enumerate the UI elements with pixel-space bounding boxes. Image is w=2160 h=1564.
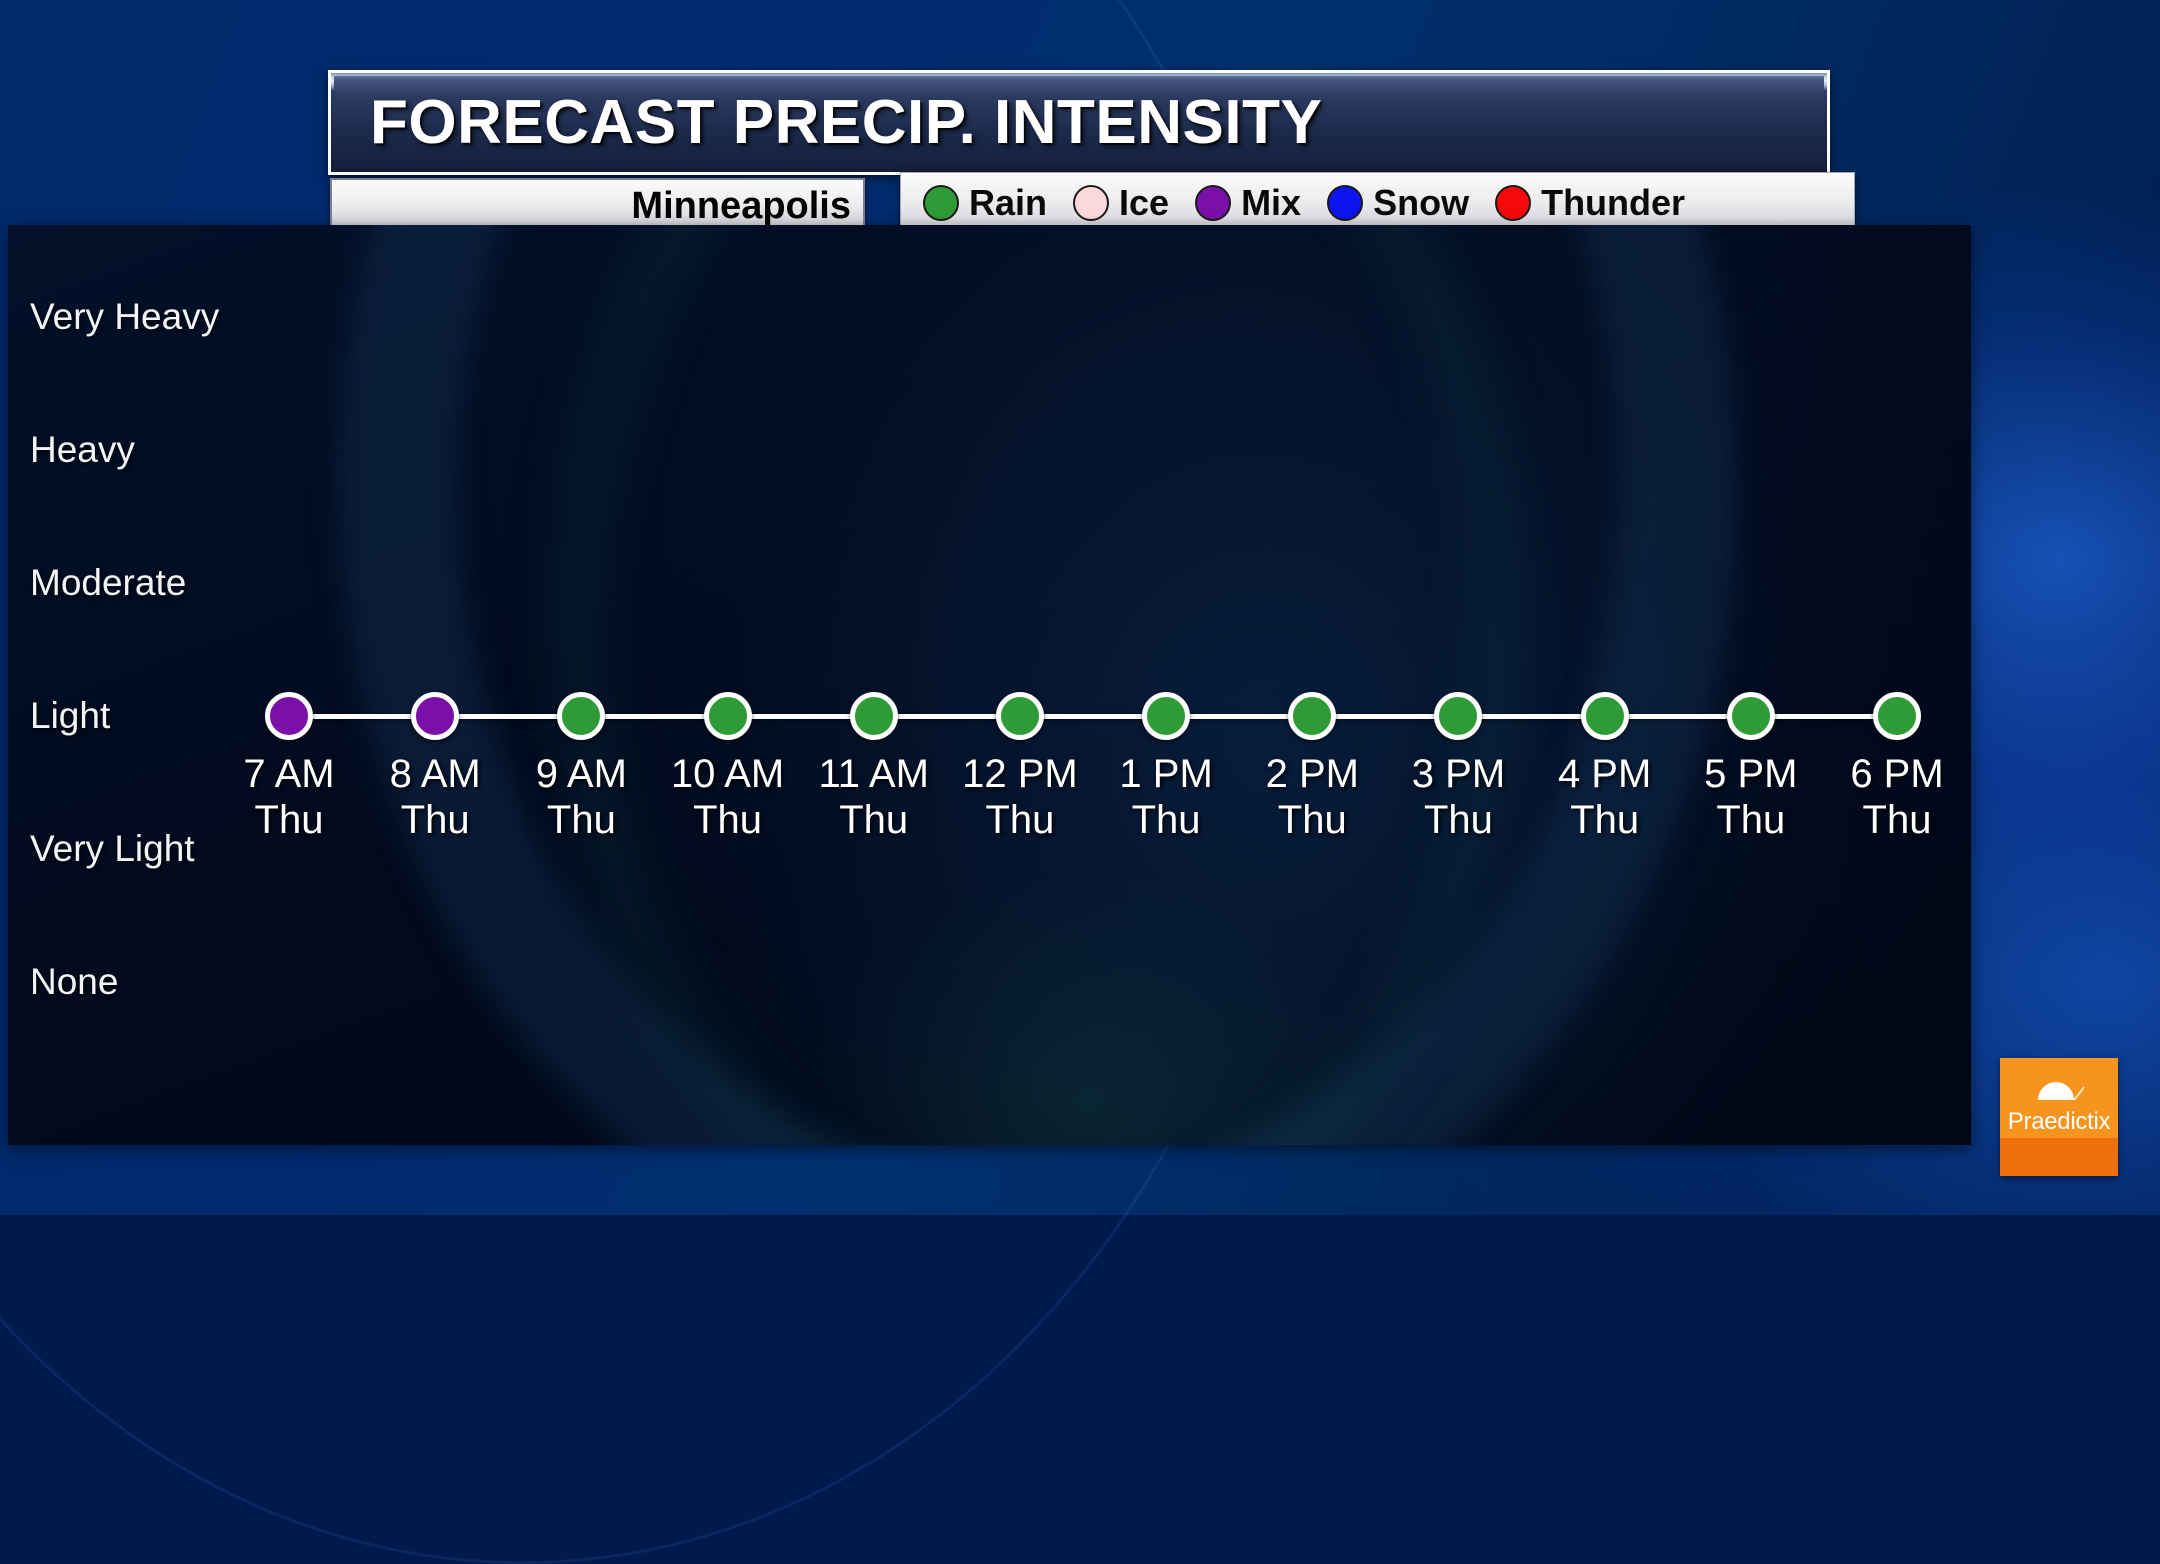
x-axis-day: Thu bbox=[1558, 797, 1651, 843]
x-axis-day: Thu bbox=[962, 797, 1078, 843]
praedictix-logo: Praedictix bbox=[2000, 1058, 2118, 1176]
data-point-marker[interactable] bbox=[1727, 692, 1775, 740]
legend-item-mix[interactable]: Mix bbox=[1195, 182, 1301, 224]
series-line-segment bbox=[1166, 714, 1312, 719]
data-point-marker[interactable] bbox=[1142, 692, 1190, 740]
location-label: Minneapolis bbox=[631, 185, 863, 228]
series-line-segment bbox=[1751, 714, 1897, 719]
x-axis-label: 7 AMThu bbox=[243, 751, 334, 843]
legend-swatch-ice-icon bbox=[1073, 185, 1109, 221]
legend-label: Snow bbox=[1373, 182, 1469, 224]
title-plate-inner: FORECAST PRECIP. INTENSITY bbox=[334, 76, 1824, 169]
legend-swatch-thunder-icon bbox=[1495, 185, 1531, 221]
x-axis-label: 1 PMThu bbox=[1119, 751, 1212, 843]
data-point-marker[interactable] bbox=[996, 692, 1044, 740]
y-axis-label: Very Light bbox=[30, 828, 195, 870]
series-line-segment bbox=[874, 714, 1020, 719]
x-axis-time: 8 AM bbox=[390, 751, 481, 797]
x-axis-label: 10 AMThu bbox=[671, 751, 784, 843]
series-line-segment bbox=[581, 714, 727, 719]
data-point-marker[interactable] bbox=[1581, 692, 1629, 740]
x-axis-day: Thu bbox=[1266, 797, 1359, 843]
x-axis-time: 12 PM bbox=[962, 751, 1078, 797]
x-axis-time: 3 PM bbox=[1412, 751, 1505, 797]
x-axis-day: Thu bbox=[819, 797, 929, 843]
data-point-marker[interactable] bbox=[1873, 692, 1921, 740]
data-point-marker[interactable] bbox=[411, 692, 459, 740]
x-axis-day: Thu bbox=[536, 797, 627, 843]
chart-swirl-decoration-2 bbox=[548, 225, 1528, 1145]
data-point-marker[interactable] bbox=[704, 692, 752, 740]
x-axis-day: Thu bbox=[390, 797, 481, 843]
x-axis-label: 3 PMThu bbox=[1412, 751, 1505, 843]
series-line-segment bbox=[289, 714, 435, 719]
x-axis-time: 7 AM bbox=[243, 751, 334, 797]
legend-swatch-mix-icon bbox=[1195, 185, 1231, 221]
series-line-segment bbox=[1312, 714, 1458, 719]
x-axis-label: 8 AMThu bbox=[390, 751, 481, 843]
plot-area bbox=[8, 225, 1971, 1145]
x-axis-time: 11 AM bbox=[819, 751, 929, 797]
data-point-marker[interactable] bbox=[265, 692, 313, 740]
x-axis-label: 11 AMThu bbox=[819, 751, 929, 843]
legend-label: Mix bbox=[1241, 182, 1301, 224]
y-axis-label: Heavy bbox=[30, 429, 135, 471]
data-point-marker[interactable] bbox=[1288, 692, 1336, 740]
page-title: FORECAST PRECIP. INTENSITY bbox=[370, 87, 1322, 158]
legend-item-rain[interactable]: Rain bbox=[923, 182, 1047, 224]
x-axis-label: 2 PMThu bbox=[1266, 751, 1359, 843]
y-axis-label: Moderate bbox=[30, 562, 186, 604]
title-plate: FORECAST PRECIP. INTENSITY bbox=[328, 70, 1830, 175]
x-axis-time: 6 PM bbox=[1850, 751, 1943, 797]
x-axis-label: 5 PMThu bbox=[1704, 751, 1797, 843]
legend-label: Rain bbox=[969, 182, 1047, 224]
legend-swatch-rain-icon bbox=[923, 185, 959, 221]
x-axis-time: 4 PM bbox=[1558, 751, 1651, 797]
chart-swirl-decoration bbox=[338, 225, 1738, 1145]
x-axis-day: Thu bbox=[671, 797, 784, 843]
header-group: FORECAST PRECIP. INTENSITY Minneapolis R… bbox=[0, 0, 2160, 240]
x-axis-label: 4 PMThu bbox=[1558, 751, 1651, 843]
y-axis-label: None bbox=[30, 961, 118, 1003]
x-axis-day: Thu bbox=[243, 797, 334, 843]
data-point-marker[interactable] bbox=[1434, 692, 1482, 740]
y-axis-label: Light bbox=[30, 695, 110, 737]
legend-item-ice[interactable]: Ice bbox=[1073, 182, 1169, 224]
legend-item-thunder[interactable]: Thunder bbox=[1495, 182, 1685, 224]
x-axis-time: 1 PM bbox=[1119, 751, 1212, 797]
legend-item-snow[interactable]: Snow bbox=[1327, 182, 1469, 224]
umbrella-icon bbox=[2032, 1078, 2086, 1104]
series-line-segment bbox=[728, 714, 874, 719]
x-axis-day: Thu bbox=[1704, 797, 1797, 843]
logo-text: Praedictix bbox=[2000, 1108, 2118, 1136]
data-point-marker[interactable] bbox=[850, 692, 898, 740]
series-line-segment bbox=[1020, 714, 1166, 719]
legend-label: Thunder bbox=[1541, 182, 1685, 224]
x-axis-day: Thu bbox=[1850, 797, 1943, 843]
x-axis-time: 5 PM bbox=[1704, 751, 1797, 797]
data-point-marker[interactable] bbox=[557, 692, 605, 740]
series-line-segment bbox=[435, 714, 581, 719]
x-axis-label: 6 PMThu bbox=[1850, 751, 1943, 843]
y-axis-label: Very Heavy bbox=[30, 296, 219, 338]
x-axis-day: Thu bbox=[1119, 797, 1212, 843]
legend-label: Ice bbox=[1119, 182, 1169, 224]
chart-panel: Very HeavyHeavyModerateLightVery LightNo… bbox=[8, 225, 1971, 1145]
series-line-segment bbox=[1605, 714, 1751, 719]
x-axis-label: 12 PMThu bbox=[962, 751, 1078, 843]
x-axis-label: 9 AMThu bbox=[536, 751, 627, 843]
x-axis-time: 9 AM bbox=[536, 751, 627, 797]
x-axis-time: 2 PM bbox=[1266, 751, 1359, 797]
x-axis-day: Thu bbox=[1412, 797, 1505, 843]
series-line-segment bbox=[1458, 714, 1604, 719]
legend-swatch-snow-icon bbox=[1327, 185, 1363, 221]
x-axis-time: 10 AM bbox=[671, 751, 784, 797]
